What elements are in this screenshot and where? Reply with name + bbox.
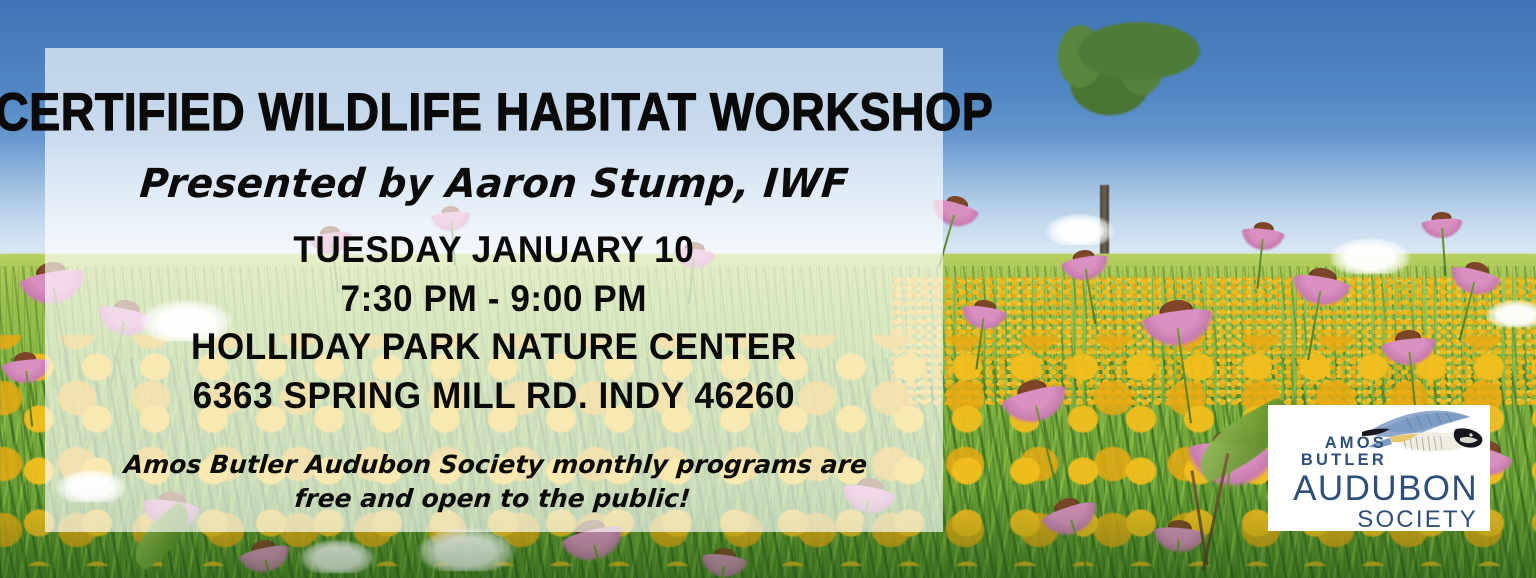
coneflower: [1419, 210, 1465, 240]
coneflower: [1137, 295, 1219, 352]
queen-annes-lace: [1046, 214, 1114, 245]
queen-annes-lace: [1330, 238, 1410, 274]
coneflower: [1378, 327, 1439, 369]
logo-line-amos-butler: AMOS BUTLER: [1268, 435, 1482, 468]
logo-line-audubon: AUDUBON: [1268, 471, 1482, 507]
presenter-line: Presented by Aaron Stump, IWF: [138, 164, 850, 204]
event-details: TUESDAY JANUARY 10 7:30 PM - 9:00 PM HOL…: [175, 228, 813, 418]
event-date: TUESDAY JANUARY 10: [191, 228, 797, 272]
coneflower: [1445, 256, 1505, 302]
text-overlay-panel: CERTIFIED WILDLIFE HABITAT WORKSHOP Pres…: [45, 48, 943, 532]
event-time: 7:30 PM - 9:00 PM: [191, 277, 797, 321]
coneflower: [1239, 220, 1288, 253]
event-footnote: Amos Butler Audubon Society monthly prog…: [111, 448, 877, 516]
page-title: CERTIFIED WILDLIFE HABITAT WORKSHOP: [0, 86, 993, 140]
event-venue: HOLLIDAY PARK NATURE CENTER: [191, 325, 797, 369]
event-address: 6363 SPRING MILL RD. INDY 46260: [191, 374, 797, 418]
logo-wordmark: AMOS BUTLER AUDUBON SOCIETY CENTRAL INDI…: [1268, 435, 1482, 531]
logo-line-society: SOCIETY: [1268, 508, 1482, 531]
queen-annes-lace: [1486, 300, 1536, 327]
coneflower: [1058, 246, 1113, 285]
event-poster: CERTIFIED WILDLIFE HABITAT WORKSHOP Pres…: [0, 0, 1536, 578]
coneflower: [996, 372, 1074, 431]
coneflower: [958, 297, 1010, 333]
audubon-logo[interactable]: AMOS BUTLER AUDUBON SOCIETY CENTRAL INDI…: [1268, 405, 1490, 531]
